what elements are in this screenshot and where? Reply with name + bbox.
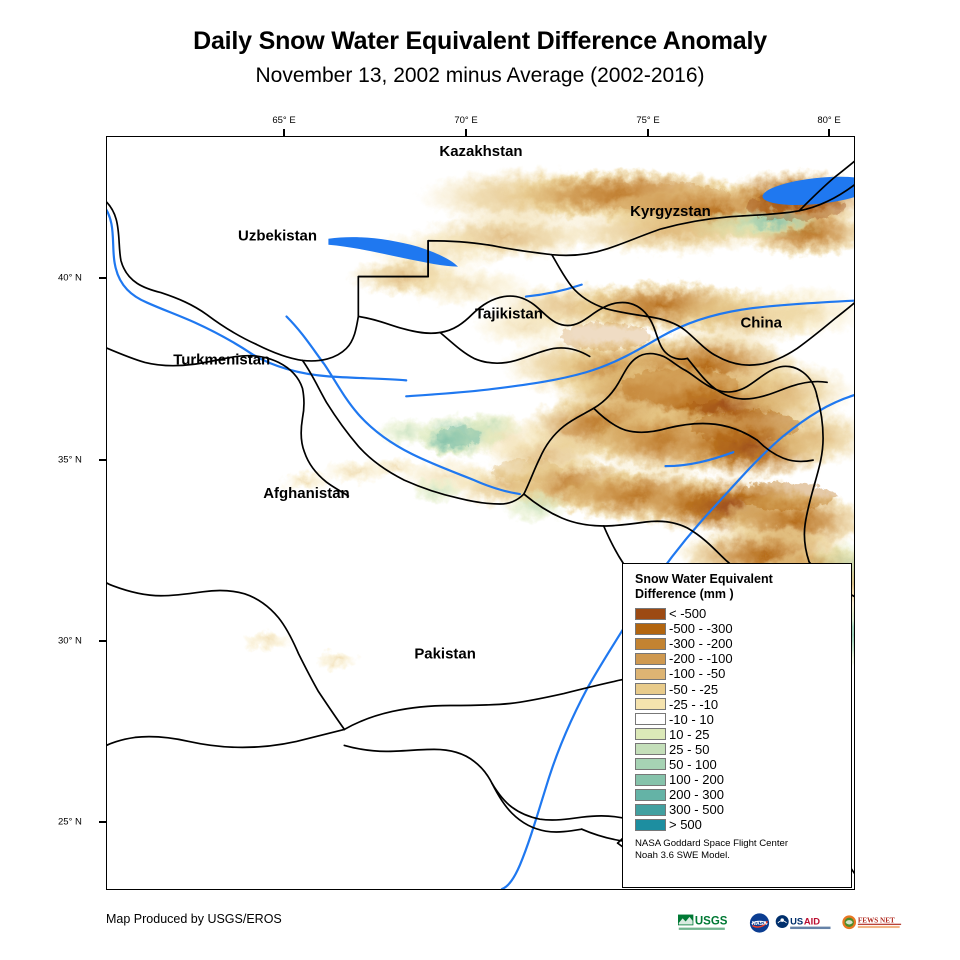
legend-row: -200 - -100: [635, 651, 841, 666]
lat-tick-label-2: 30° N: [58, 636, 82, 647]
legend-swatch: [635, 668, 666, 680]
legend-label: > 500: [669, 818, 702, 831]
legend-source-note: NASA Goddard Space Flight Center Noah 3.…: [635, 838, 841, 862]
legend-swatch: [635, 683, 666, 695]
legend-label: -200 - -100: [669, 652, 733, 665]
legend-swatch: [635, 789, 666, 801]
legend-label: 200 - 300: [669, 788, 724, 801]
legend-label: 50 - 100: [669, 758, 717, 771]
legend-swatch: [635, 728, 666, 740]
legend-swatch: [635, 608, 666, 620]
legend-swatch: [635, 819, 666, 831]
legend-swatch: [635, 774, 666, 786]
lon-tick-1: [465, 129, 467, 136]
nasa-logo: NASA: [749, 912, 770, 934]
country-label-tajikistan: Tajikistan: [475, 306, 543, 323]
legend-label: -25 - -10: [669, 698, 718, 711]
legend-title: Snow Water Equivalent Difference (mm ): [635, 572, 841, 602]
legend-row: 100 - 200: [635, 772, 841, 787]
legend-label: -50 - -25: [669, 683, 718, 696]
legend-swatch: [635, 713, 666, 725]
lat-tick-label-0: 40° N: [58, 273, 82, 284]
lon-tick-label-0: 65° E: [272, 115, 295, 126]
legend-swatch: [635, 758, 666, 770]
lat-tick-label-1: 35° N: [58, 455, 82, 466]
legend-row: 200 - 300: [635, 787, 841, 802]
country-label-pakistan: Pakistan: [414, 646, 476, 663]
lat-tick-0: [99, 277, 106, 279]
country-label-china: China: [740, 314, 782, 331]
logo-strip: USGS NASA US AID FEWS NET: [678, 911, 904, 935]
map-credit: Map Produced by USGS/EROS: [106, 912, 282, 926]
lat-tick-label-3: 25° N: [58, 817, 82, 828]
lat-tick-3: [99, 821, 106, 823]
legend-label: 25 - 50: [669, 743, 709, 756]
svg-text:AID: AID: [804, 916, 820, 926]
legend-row: 25 - 50: [635, 742, 841, 757]
legend-label: -300 - -200: [669, 637, 733, 650]
legend-row: 300 - 500: [635, 802, 841, 817]
legend-row: -100 - -50: [635, 666, 841, 681]
legend-row: -500 - -300: [635, 621, 841, 636]
legend-swatch: [635, 698, 666, 710]
map-legend: Snow Water Equivalent Difference (mm ) <…: [622, 563, 852, 888]
lat-tick-2: [99, 640, 106, 642]
legend-swatch: [635, 623, 666, 635]
svg-text:NASA: NASA: [752, 921, 767, 927]
legend-row: < -500: [635, 606, 841, 621]
legend-swatch: [635, 638, 666, 650]
lon-tick-label-3: 80° E: [817, 115, 840, 126]
legend-row: > 500: [635, 817, 841, 832]
legend-row: -300 - -200: [635, 636, 841, 651]
lon-tick-2: [647, 129, 649, 136]
page-title: Daily Snow Water Equivalent Difference A…: [0, 26, 960, 56]
lat-tick-1: [99, 459, 106, 461]
usaid-logo: US AID: [775, 912, 837, 934]
legend-label: -10 - 10: [669, 713, 714, 726]
country-label-uzbekistan: Uzbekistan: [238, 228, 317, 245]
svg-text:USGS: USGS: [695, 916, 728, 928]
legend-label: -100 - -50: [669, 667, 725, 680]
legend-row: -25 - -10: [635, 697, 841, 712]
svg-text:US: US: [790, 916, 803, 926]
country-label-kyrgyzstan: Kyrgyzstan: [630, 203, 711, 220]
legend-label: 10 - 25: [669, 728, 709, 741]
svg-text:FEWS NET: FEWS NET: [858, 916, 895, 924]
legend-label: 300 - 500: [669, 803, 724, 816]
legend-row: 50 - 100: [635, 757, 841, 772]
legend-label: < -500: [669, 607, 706, 620]
lon-tick-3: [828, 129, 830, 136]
lon-tick-label-2: 75° E: [636, 115, 659, 126]
legend-swatch: [635, 653, 666, 665]
lon-tick-0: [283, 129, 285, 136]
legend-label: -500 - -300: [669, 622, 733, 635]
legend-row: -50 - -25: [635, 681, 841, 696]
legend-row: -10 - 10: [635, 712, 841, 727]
lon-tick-label-1: 70° E: [454, 115, 477, 126]
country-label-afghanistan: Afghanistan: [263, 485, 349, 502]
legend-swatch: [635, 804, 666, 816]
page-subtitle: November 13, 2002 minus Average (2002-20…: [0, 62, 960, 90]
legend-swatch: [635, 743, 666, 755]
legend-row: 10 - 25: [635, 727, 841, 742]
legend-label: 100 - 200: [669, 773, 724, 786]
usgs-logo: USGS: [678, 912, 744, 934]
legend-class-list: < -500-500 - -300-300 - -200-200 - -100-…: [635, 606, 841, 832]
fewsnet-logo: FEWS NET: [842, 912, 904, 934]
title-block: Daily Snow Water Equivalent Difference A…: [0, 26, 960, 90]
country-label-turkmenistan: Turkmenistan: [173, 351, 270, 368]
country-label-kazakhstan: Kazakhstan: [439, 143, 522, 160]
